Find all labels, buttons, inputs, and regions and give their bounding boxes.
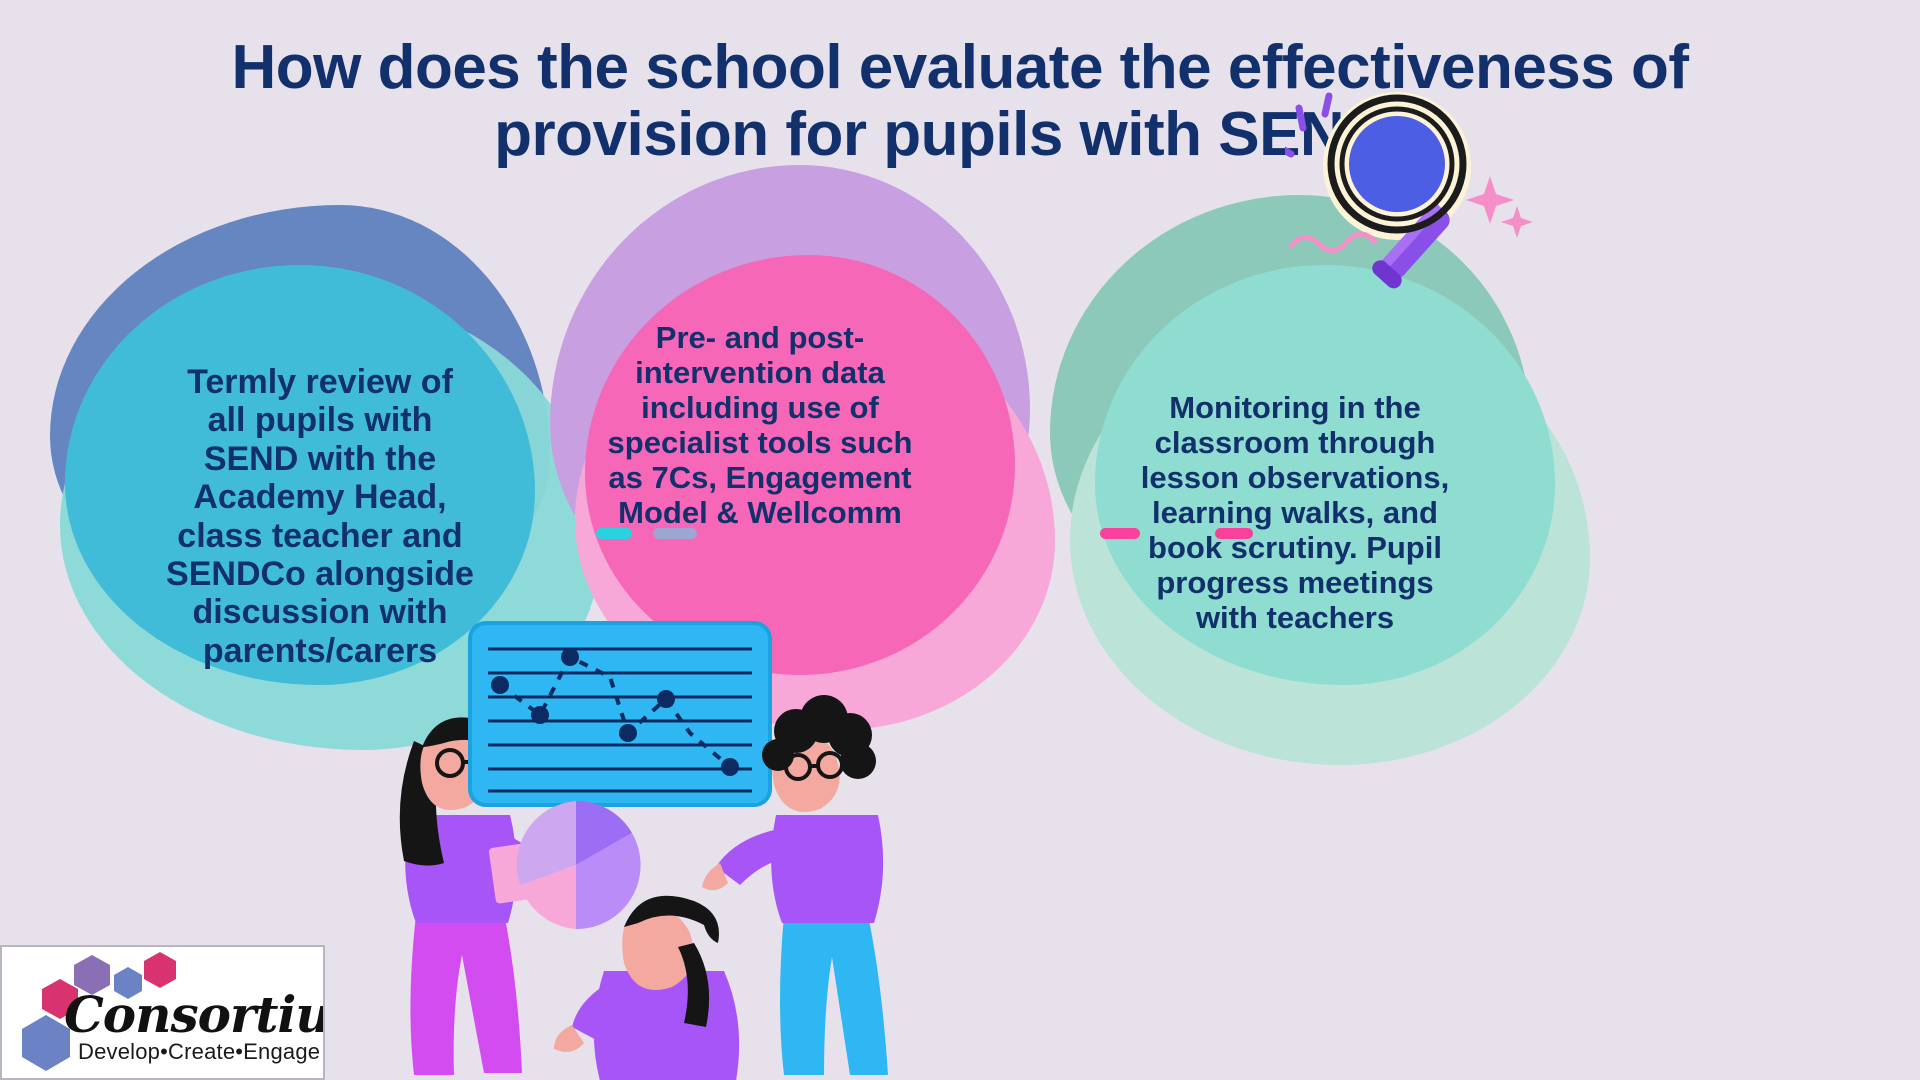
bubble-text-right: Monitoring in the classroom through less… xyxy=(1130,390,1460,635)
slide-canvas: How does the school evaluate the effecti… xyxy=(0,0,1920,1080)
logo-wordmark: Consortium xyxy=(64,985,325,1044)
connector-dash-right-1 xyxy=(1100,528,1140,539)
illustration-chart-board xyxy=(470,623,770,805)
magnifying-glass-icon xyxy=(1285,88,1535,298)
consortium-logo: Consortium Develop•Create•Engage xyxy=(0,945,325,1080)
connector-dash-left-2 xyxy=(653,528,697,539)
connector-dash-left-1 xyxy=(596,528,632,539)
illustration-pie-chart xyxy=(517,801,641,929)
logo-tagline: Develop•Create•Engage xyxy=(78,1039,320,1065)
team-analysing-data-chart-illustration xyxy=(380,615,900,1080)
bubble-text-middle: Pre- and post- intervention data includi… xyxy=(600,320,920,530)
connector-dash-right-2 xyxy=(1215,528,1253,539)
page-title: How does the school evaluate the effecti… xyxy=(130,35,1790,169)
